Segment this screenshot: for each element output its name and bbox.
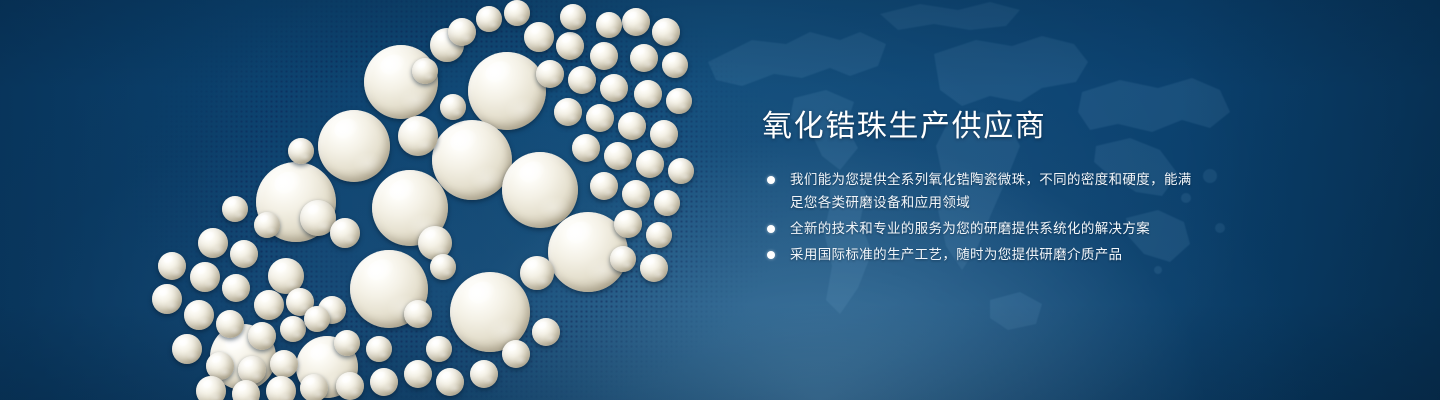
list-item: 全新的技术和专业的服务为您的研磨提供系统化的解决方案: [762, 217, 1232, 240]
bullet-text: 我们能为您提供全系列氧化锆陶瓷微珠，不同的密度和硬度，能满足您各类研磨设备和应用…: [790, 168, 1202, 214]
bullet-marker-icon: [767, 176, 775, 184]
banner-copy-block: 氧化锆珠生产供应商 我们能为您提供全系列氧化锆陶瓷微珠，不同的密度和硬度，能满足…: [762, 108, 1232, 269]
bullet-marker-icon: [767, 251, 775, 259]
hero-banner: 氧化锆珠生产供应商 我们能为您提供全系列氧化锆陶瓷微珠，不同的密度和硬度，能满足…: [0, 0, 1440, 400]
bullet-text: 全新的技术和专业的服务为您的研磨提供系统化的解决方案: [790, 217, 1202, 240]
zirconia-bead-cluster-image: [0, 0, 760, 400]
bullet-text: 采用国际标准的生产工艺，随时为您提供研磨介质产品: [790, 243, 1202, 266]
feature-bullet-list: 我们能为您提供全系列氧化锆陶瓷微珠，不同的密度和硬度，能满足您各类研磨设备和应用…: [762, 168, 1232, 266]
list-item: 我们能为您提供全系列氧化锆陶瓷微珠，不同的密度和硬度，能满足您各类研磨设备和应用…: [762, 168, 1232, 214]
list-item: 采用国际标准的生产工艺，随时为您提供研磨介质产品: [762, 243, 1232, 266]
page-title: 氧化锆珠生产供应商: [762, 108, 1232, 146]
bullet-marker-icon: [767, 225, 775, 233]
